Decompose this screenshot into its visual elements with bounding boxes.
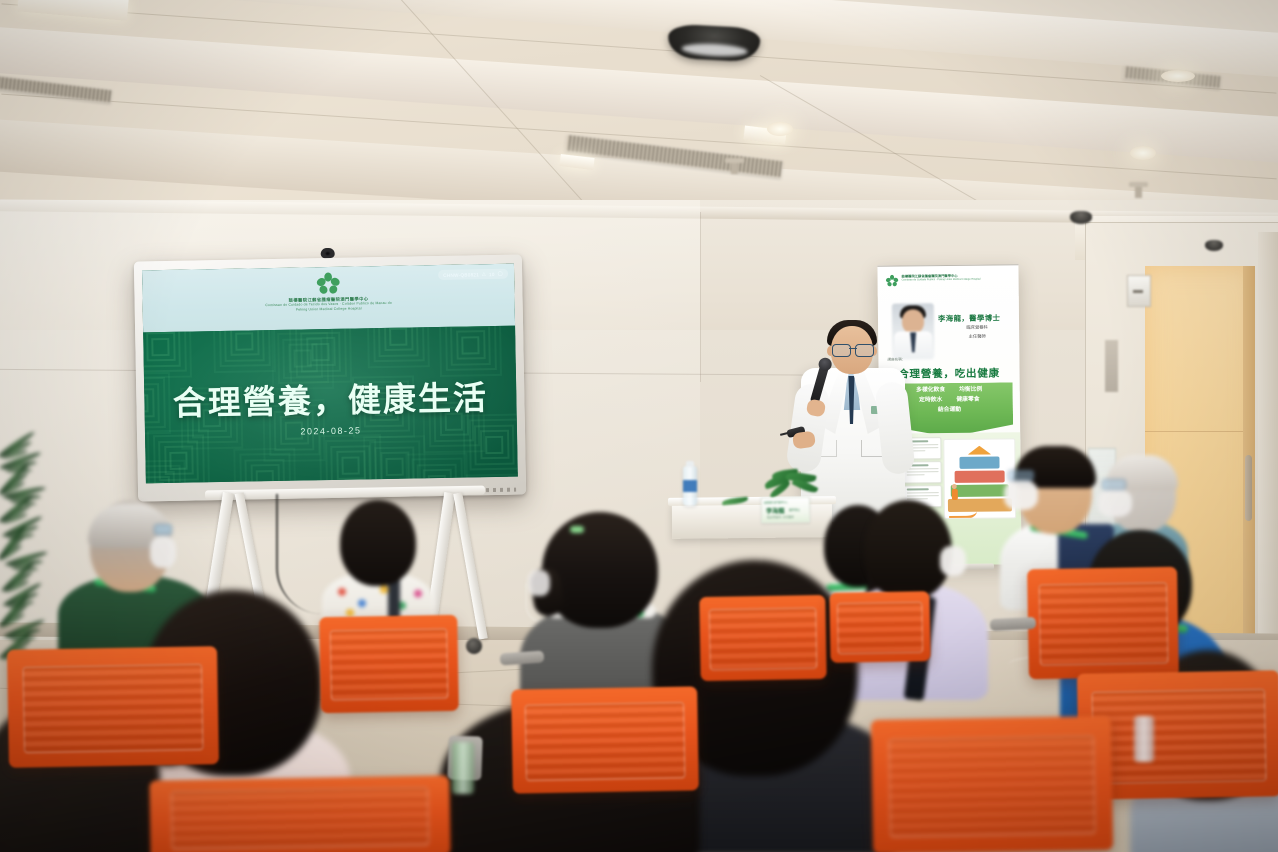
recessed-downlight xyxy=(1130,146,1156,160)
display-osd: CHNW-QB0821 △ 10 ◯ xyxy=(438,269,508,280)
lecture-room-scene: 鼓樓醫院江蘇省腫瘤醫院澳門醫學中心 Comissao do Cuidado de… xyxy=(0,0,1278,852)
water-bottle[interactable] xyxy=(1134,716,1154,762)
webcam-icon xyxy=(321,248,335,258)
osd-signal: 10 xyxy=(489,271,495,276)
name-card-degree: 醫學博士 xyxy=(789,508,800,512)
battery-icon: ◯ xyxy=(498,271,504,277)
slide-title: 合理營養，健康生活 xyxy=(144,371,517,426)
slide-org-block: 鼓樓醫院江蘇省腫瘤醫院澳門醫學中心 Comissao do Cuidado de… xyxy=(150,294,507,314)
dome-camera-icon xyxy=(1205,240,1223,251)
audience-chair[interactable] xyxy=(319,615,459,713)
door-handle[interactable] xyxy=(1245,455,1252,521)
audience-chair[interactable] xyxy=(7,646,219,768)
name-card-name: 李海龍 xyxy=(766,506,785,515)
audience-chair[interactable] xyxy=(149,775,450,852)
audience-chair[interactable] xyxy=(871,716,1113,852)
banner-org-block: 鼓樓醫院江蘇省腫瘤醫院澳門醫學中心 Comissao do Cuidado Pu… xyxy=(902,273,1014,282)
slide-body: 合理營養，健康生活 2024-08-25 xyxy=(143,325,518,483)
name-card-org: 鼓樓醫院澳門醫學中心 xyxy=(764,499,807,504)
presentation-display[interactable]: 鼓樓醫院江蘇省腫瘤醫院澳門醫學中心 Comissao do Cuidado de… xyxy=(134,254,526,501)
banner-org-line2: Comissao do Cuidado Publico · Peking Uni… xyxy=(902,278,1014,282)
name-card: 鼓樓醫院澳門醫學中心 李海龍 醫學博士 臨床營養科 主任醫師 xyxy=(761,497,810,524)
banner-speaker-dept: 臨床營養科 xyxy=(942,324,1012,331)
wifi-icon: △ xyxy=(482,271,486,277)
recessed-downlight xyxy=(767,122,793,136)
clover-logo-icon xyxy=(885,275,900,288)
audience-chair[interactable] xyxy=(511,686,699,793)
water-bottle[interactable] xyxy=(683,466,697,506)
banner-speaker-role: 主任醫師 xyxy=(942,333,1012,340)
sprinkler-head-icon xyxy=(731,162,738,174)
sprinkler-head-icon xyxy=(1135,186,1142,198)
banner-speaker-name: 李海龍，醫學博士 xyxy=(938,312,1016,324)
floor-palm-plant xyxy=(0,432,64,662)
water-bottle[interactable] xyxy=(452,742,474,794)
audience-chair[interactable] xyxy=(699,595,826,681)
audience-chair[interactable] xyxy=(829,591,930,663)
audience-chair[interactable] xyxy=(1027,567,1179,680)
banner-point-2: 均衡比例 xyxy=(959,385,982,395)
stand-caster xyxy=(466,638,482,654)
name-card-subtitle: 臨床營養科 主任醫師 xyxy=(767,515,794,519)
recessed-downlight xyxy=(1161,70,1195,82)
display-control-keys[interactable] xyxy=(486,488,516,493)
chair-armrest xyxy=(990,617,1037,631)
osd-text: CHNW-QB0821 xyxy=(443,272,479,278)
slide-screen: 鼓樓醫院江蘇省腫瘤醫院澳門醫學中心 Comissao do Cuidado de… xyxy=(142,264,518,484)
clover-logo-icon xyxy=(314,272,342,297)
dome-camera-icon xyxy=(1070,211,1092,224)
banner-point-5: 結合運動 xyxy=(938,405,961,415)
access-control-panel[interactable] xyxy=(1127,275,1151,307)
wall-switch[interactable] xyxy=(1105,340,1118,392)
banner-point-4: 健康零食 xyxy=(956,395,979,405)
banner-point-3: 定時飲水 xyxy=(919,395,942,405)
banner-point-1: 多樣化飲食 xyxy=(916,385,945,395)
eyeglasses-icon xyxy=(832,344,874,355)
